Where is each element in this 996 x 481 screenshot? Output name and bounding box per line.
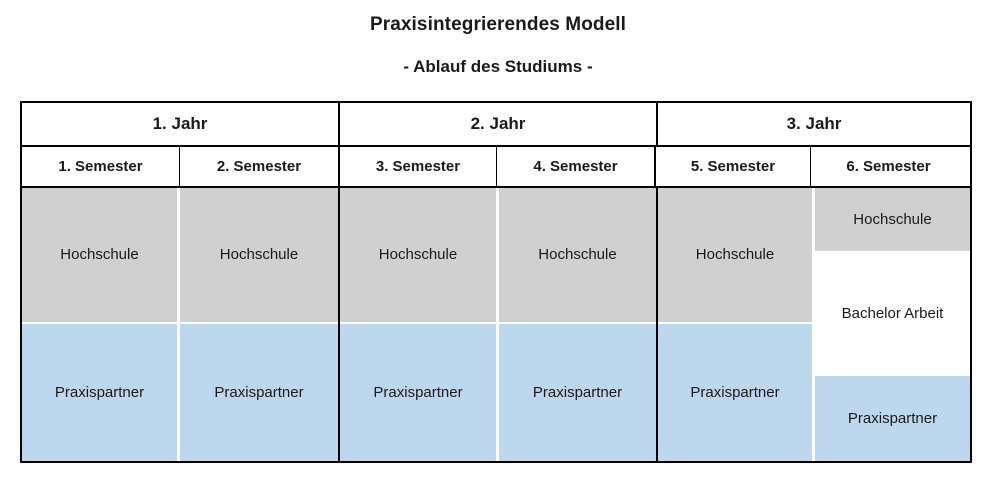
block-label: Hochschule (853, 211, 931, 229)
block-praxispartner: Praxispartner (499, 324, 656, 461)
block-praxispartner: Praxispartner (340, 324, 496, 461)
semester-header-5: 5. Semester (654, 147, 810, 186)
block-label: Bachelor Arbeit (842, 305, 944, 323)
page-subtitle: - Ablauf des Studiums - (0, 57, 996, 77)
semester-header-3: 3. Semester (338, 147, 496, 186)
block-praxispartner: Praxispartner (180, 324, 338, 461)
semester-header-6: 6. Semester (810, 147, 966, 186)
block-hochschule: Hochschule (815, 188, 970, 251)
study-schedule-table: 1. Jahr 2. Jahr 3. Jahr 1. Semester 2. S… (20, 101, 972, 463)
block-label: Hochschule (538, 246, 616, 264)
year-label: 1. Jahr (153, 114, 208, 134)
page-title: Praxisintegrierendes Modell (0, 14, 996, 36)
semester-header-4: 4. Semester (496, 147, 654, 186)
block-label: Praxispartner (55, 384, 144, 402)
year-header-1: 1. Jahr (22, 103, 338, 145)
semester-1-column: Hochschule Praxispartner (22, 188, 177, 461)
block-label: Praxispartner (848, 410, 937, 428)
semester-header-2: 2. Semester (179, 147, 338, 186)
semester-label: 6. Semester (846, 158, 930, 175)
block-label: Praxispartner (690, 384, 779, 402)
block-label: Praxispartner (533, 384, 622, 402)
semester-2-column: Hochschule Praxispartner (180, 188, 338, 461)
year-header-3: 3. Jahr (656, 103, 970, 145)
year-1-content-group: Hochschule Praxispartner Hochschule Prax… (22, 188, 338, 461)
content-row: Hochschule Praxispartner Hochschule Prax… (22, 188, 970, 461)
block-label: Hochschule (379, 246, 457, 264)
semester-3-column: Hochschule Praxispartner (340, 188, 496, 461)
title-block: Praxisintegrierendes Modell - Ablauf des… (0, 0, 996, 77)
semester-label: 5. Semester (691, 158, 775, 175)
year-header-row: 1. Jahr 2. Jahr 3. Jahr (22, 103, 970, 147)
semester-5-column: Hochschule Praxispartner (658, 188, 812, 461)
block-label: Hochschule (60, 246, 138, 264)
semester-4-column: Hochschule Praxispartner (499, 188, 656, 461)
block-hochschule: Hochschule (22, 188, 177, 322)
block-hochschule: Hochschule (658, 188, 812, 322)
semester-label: 1. Semester (58, 158, 142, 175)
year-2-content-group: Hochschule Praxispartner Hochschule Prax… (338, 188, 656, 461)
block-bachelor-arbeit: Bachelor Arbeit (815, 253, 970, 374)
year-label: 2. Jahr (471, 114, 526, 134)
semester-label: 4. Semester (533, 158, 617, 175)
year-3-content-group: Hochschule Praxispartner Hochschule Bach… (656, 188, 970, 461)
block-hochschule: Hochschule (180, 188, 338, 322)
semester-label: 3. Semester (376, 158, 460, 175)
block-label: Praxispartner (214, 384, 303, 402)
semester-label: 2. Semester (217, 158, 301, 175)
year-header-2: 2. Jahr (338, 103, 656, 145)
year-label: 3. Jahr (787, 114, 842, 134)
block-hochschule: Hochschule (340, 188, 496, 322)
block-hochschule: Hochschule (499, 188, 656, 322)
block-praxispartner: Praxispartner (658, 324, 812, 461)
block-label: Hochschule (696, 246, 774, 264)
semester-header-row: 1. Semester 2. Semester 3. Semester 4. S… (22, 147, 970, 188)
block-praxispartner: Praxispartner (815, 376, 970, 461)
block-label: Praxispartner (373, 384, 462, 402)
block-praxispartner: Praxispartner (22, 324, 177, 461)
semester-header-1: 1. Semester (22, 147, 179, 186)
semester-6-column: Hochschule Bachelor Arbeit Praxispartner (815, 188, 970, 461)
block-label: Hochschule (220, 246, 298, 264)
